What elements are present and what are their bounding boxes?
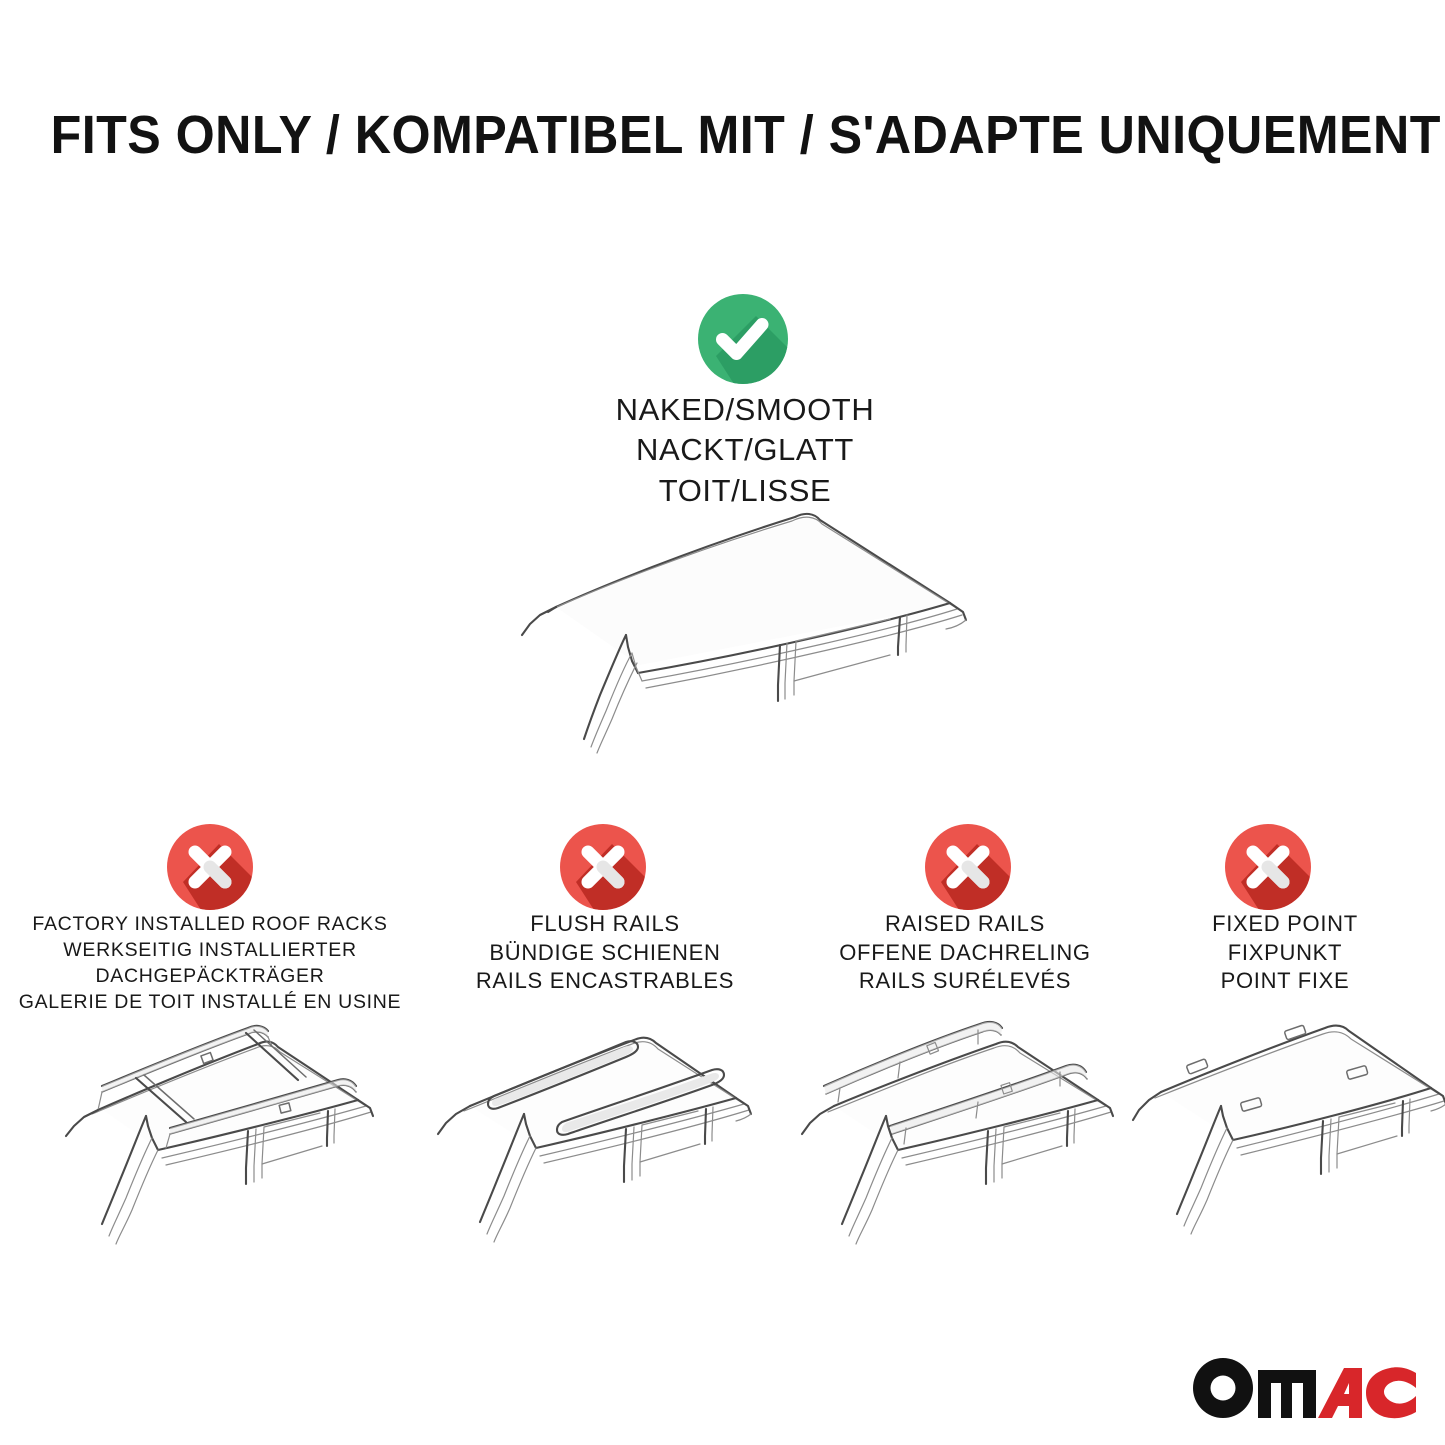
caption-line-fr: GALERIE DE TOIT INSTALLÉ EN USINE [10, 990, 410, 1016]
x-icon-graphic [560, 824, 646, 910]
caption-line-en: FLUSH RAILS [425, 910, 785, 939]
x-circle-icon-flush-rails [560, 824, 646, 910]
caption-line-de: FIXPUNKT [1135, 939, 1435, 968]
car-roof-naked-smooth-illustration [460, 495, 1020, 760]
x-icon-graphic [167, 824, 253, 910]
x-icon-graphic [925, 824, 1011, 910]
car-roof-raised-rails-illustration [780, 1018, 1145, 1253]
caption-line-fr: POINT FIXE [1135, 967, 1435, 996]
logo-letter-o [1193, 1358, 1253, 1418]
x-icon-graphic [1225, 824, 1311, 910]
compatible-line-en: NAKED/SMOOTH [545, 390, 945, 430]
compatible-caption: NAKED/SMOOTH NACKT/GLATT TOIT/LISSE [545, 390, 945, 511]
incompatible-caption-roof-racks: FACTORY INSTALLED ROOF RACKS WERKSEITIG … [10, 912, 410, 1016]
caption-line-en: RAISED RAILS [785, 910, 1145, 939]
caption-line-en: FIXED POINT [1135, 910, 1435, 939]
logo-letter-c [1366, 1367, 1416, 1418]
infographic-page: FITS ONLY / KOMPATIBEL MIT / S'ADAPTE UN… [0, 0, 1445, 1445]
incompatible-caption-fixed-point: FIXED POINT FIXPUNKT POINT FIXE [1135, 910, 1435, 996]
page-title: FITS ONLY / KOMPATIBEL MIT / S'ADAPTE UN… [51, 104, 1395, 166]
car-roof-flush-rails-illustration [420, 1018, 785, 1253]
caption-line-fr: RAILS ENCASTRABLES [425, 967, 785, 996]
caption-line-de: OFFENE DACHRELING [785, 939, 1145, 968]
x-circle-icon-raised-rails [925, 824, 1011, 910]
caption-line-en: FACTORY INSTALLED ROOF RACKS [10, 912, 410, 938]
incompatible-caption-raised-rails: RAISED RAILS OFFENE DACHRELING RAILS SUR… [785, 910, 1145, 996]
check-circle-icon [698, 294, 788, 384]
check-icon-graphic [698, 294, 788, 384]
car-roof-factory-roof-racks-illustration [40, 1018, 405, 1253]
logo-letter-a [1318, 1368, 1362, 1418]
caption-line-fr: RAILS SURÉLEVÉS [785, 967, 1145, 996]
compatible-line-de: NACKT/GLATT [545, 430, 945, 470]
caption-line-de-1: WERKSEITIG INSTALLIERTER [10, 938, 410, 964]
x-circle-icon-roof-racks [167, 824, 253, 910]
logo-letter-m [1258, 1370, 1316, 1418]
caption-line-de: BÜNDIGE SCHIENEN [425, 939, 785, 968]
incompatible-caption-flush-rails: FLUSH RAILS BÜNDIGE SCHIENEN RAILS ENCAS… [425, 910, 785, 996]
car-roof-fixed-point-illustration [1125, 1018, 1445, 1253]
omac-logo [1192, 1356, 1418, 1420]
x-circle-icon-fixed-point [1225, 824, 1311, 910]
caption-line-de-2: DACHGEPÄCKTRÄGER [10, 964, 410, 990]
